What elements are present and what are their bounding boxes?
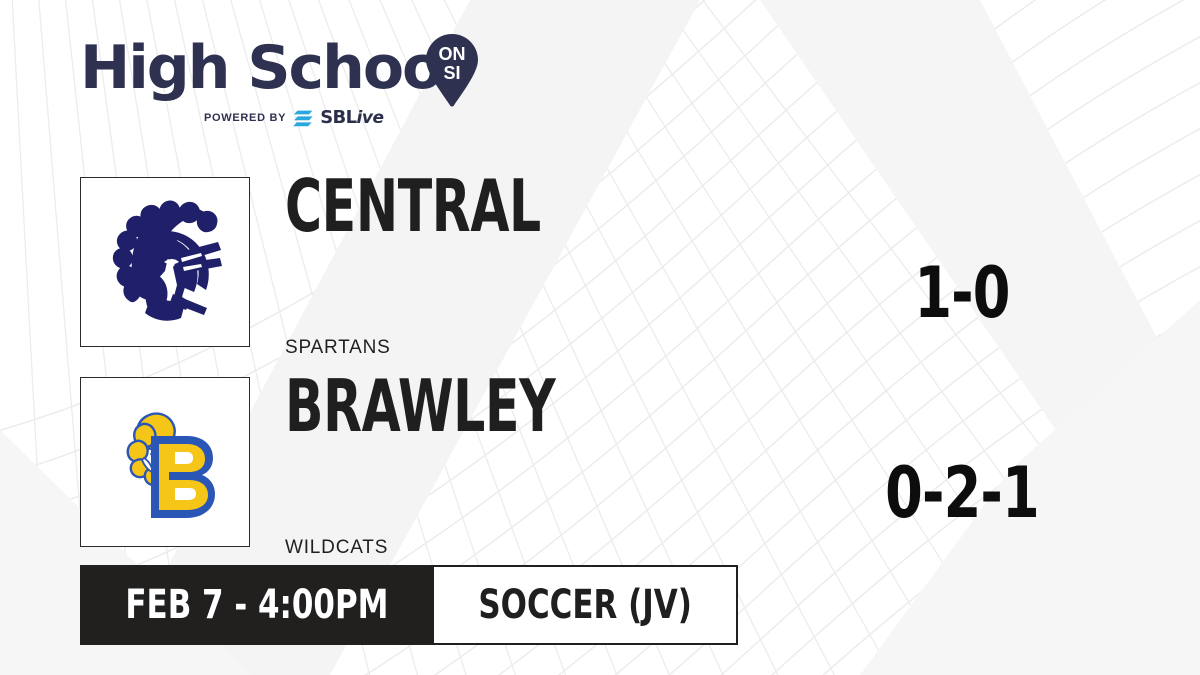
team-logo-box[interactable] bbox=[80, 377, 250, 547]
brawley-b-paw-logo bbox=[101, 398, 229, 526]
sblive-wordmark-italic: ive bbox=[357, 108, 384, 128]
team-record: 1-0 bbox=[876, 258, 1048, 328]
team-mascot: WILDCATS bbox=[285, 537, 388, 559]
team-name: BRAWLEY bbox=[285, 367, 555, 445]
pin-label-on: ON bbox=[439, 44, 466, 64]
team-mascot: SPARTANS bbox=[285, 337, 391, 359]
powered-by-block: POWERED BY SBLive bbox=[204, 109, 384, 127]
game-sport-badge[interactable]: SOCCER (JV) bbox=[434, 565, 738, 645]
spartan-helmet-logo bbox=[101, 198, 229, 326]
sblive-wordmark: SBLive bbox=[320, 109, 383, 127]
team-name: CENTRAL bbox=[285, 167, 541, 245]
brand-logo[interactable]: High School ON SI POWERED BY SBLive bbox=[80, 34, 510, 130]
pin-label-si: SI bbox=[443, 63, 460, 83]
brand-wordmark: High School bbox=[80, 38, 460, 98]
game-datetime-badge[interactable]: FEB 7 - 4:00PM bbox=[80, 565, 434, 645]
team-record: 0-2-1 bbox=[876, 458, 1048, 528]
sblive-wordmark-bold: SBL bbox=[320, 107, 356, 128]
map-pin-icon: ON SI bbox=[424, 32, 480, 110]
sblive-s-icon bbox=[293, 110, 313, 127]
game-datetime-label: FEB 7 - 4:00PM bbox=[125, 585, 388, 625]
game-sport-label: SOCCER (JV) bbox=[478, 585, 692, 625]
team-logo-box[interactable] bbox=[80, 177, 250, 347]
powered-by-label: POWERED BY bbox=[204, 113, 286, 124]
game-info-bar: FEB 7 - 4:00PM SOCCER (JV) bbox=[80, 565, 738, 645]
